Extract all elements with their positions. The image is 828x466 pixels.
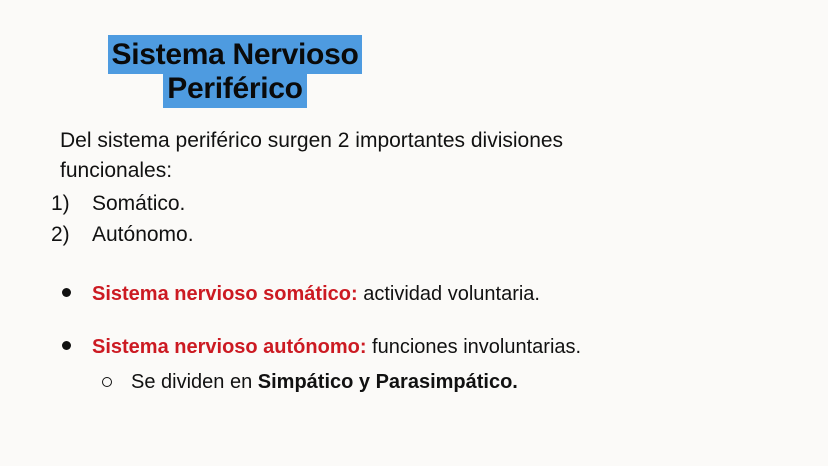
- list-item-label: Autónomo.: [92, 219, 194, 250]
- slide-canvas: Sistema Nervioso Periférico Del sistema …: [0, 0, 828, 466]
- intro-line-1: Del sistema periférico surgen 2 importan…: [60, 129, 563, 152]
- disc-bullet-icon: [62, 280, 92, 306]
- intro-paragraph: Del sistema periférico surgen 2 importan…: [60, 126, 680, 186]
- list-marker: 2): [51, 219, 92, 250]
- sub-bullet-bold: Simpático y Parasimpático.: [258, 371, 518, 393]
- list-item-label: Somático.: [92, 188, 185, 219]
- list-item: Sistema nervioso autónomo: funciones inv…: [62, 333, 762, 396]
- intro-line-2: funcionales:: [60, 156, 680, 186]
- bullet-list: Sistema nervioso somático: actividad vol…: [62, 280, 762, 396]
- sub-bullet-plain: Se dividen en: [131, 371, 258, 393]
- list-item: 1) Somático.: [51, 188, 551, 219]
- title-highlight-2: Periférico: [163, 69, 306, 108]
- circle-bullet-icon: [102, 368, 131, 396]
- bullet-rest-autonomo: funciones involuntarias.: [367, 336, 582, 358]
- disc-bullet-icon: [62, 333, 92, 359]
- sub-bullet-text: Se dividen en Simpático y Parasimpático.: [131, 368, 518, 396]
- title-line-1: Sistema Nervioso: [0, 38, 470, 72]
- page-title: Sistema Nervioso Periférico: [0, 38, 470, 106]
- bullet-rest-somatico: actividad voluntaria.: [358, 283, 540, 305]
- list-item: 2) Autónomo.: [51, 219, 551, 250]
- title-line-2: Periférico: [0, 72, 470, 106]
- sub-list-item: Se dividen en Simpático y Parasimpático.: [102, 368, 762, 396]
- list-item: Sistema nervioso somático: actividad vol…: [62, 280, 762, 309]
- bullet-lead-somatico: Sistema nervioso somático:: [92, 283, 358, 305]
- bullet-text: Sistema nervioso autónomo: funciones inv…: [92, 333, 762, 396]
- numbered-list: 1) Somático. 2) Autónomo.: [51, 188, 551, 250]
- list-marker: 1): [51, 188, 92, 219]
- bullet-lead-autonomo: Sistema nervioso autónomo:: [92, 336, 367, 358]
- bullet-text: Sistema nervioso somático: actividad vol…: [92, 280, 762, 309]
